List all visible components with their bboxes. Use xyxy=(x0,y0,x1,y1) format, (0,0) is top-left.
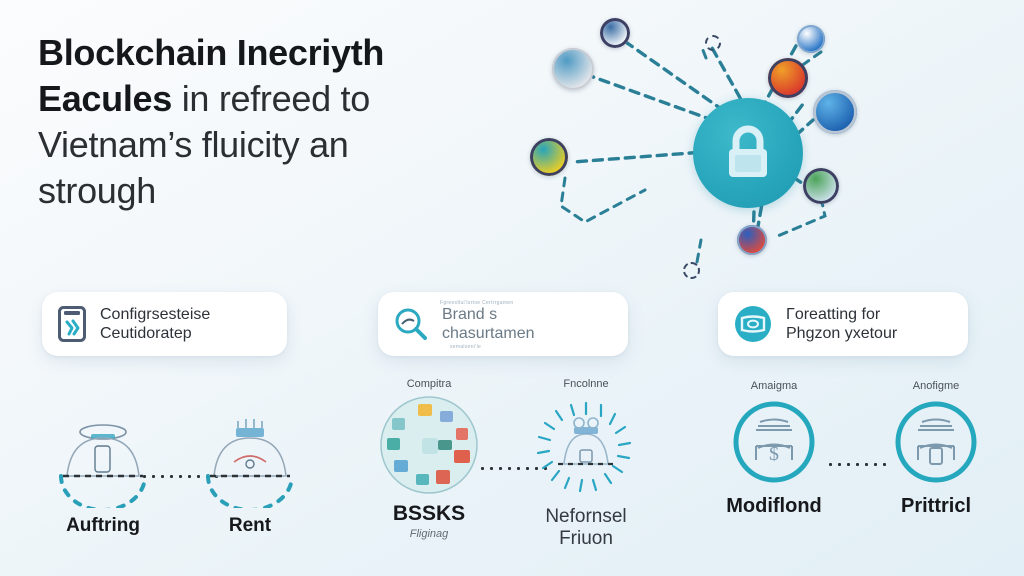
padlock-icon xyxy=(720,123,776,183)
node-map-gray[interactable] xyxy=(552,48,594,90)
card-research-micro-top: Fgreestlui’lsrtoe Certrrgamen xyxy=(440,300,513,306)
network-hub xyxy=(693,98,803,208)
node-terminator-top xyxy=(705,35,721,51)
card-compliance-line1: Configrsesteise xyxy=(100,306,210,323)
item-modiflond[interactable]: Amaigma $ Modiflond xyxy=(704,380,844,518)
item-prittricl-top-label: Anofigme xyxy=(866,380,1006,392)
card-research-micro-bottom: semalseni‘le xyxy=(450,344,481,350)
node-flag-red[interactable] xyxy=(768,58,808,98)
infographic-canvas: Blockchain Inecriyth Eacules in refreed … xyxy=(0,0,1024,576)
page-title-rest-line2: in refreed to xyxy=(172,78,370,119)
earth-icon xyxy=(803,168,839,204)
bed-device-icon xyxy=(890,396,982,488)
tablet-document-icon xyxy=(58,306,86,342)
item-nefornsel[interactable]: Fncolnne Nefornsel Friuon xyxy=(516,378,656,550)
dome-crown-icon xyxy=(194,404,306,508)
svg-text:$: $ xyxy=(769,443,779,465)
node-fb-blue[interactable] xyxy=(797,25,825,53)
item-nefornsel-top-label: Fncolnne xyxy=(516,378,656,390)
item-bssks[interactable]: Compitra BSSKS Fliginag xyxy=(364,378,494,540)
node-terminator-bottom xyxy=(683,262,700,279)
item-nefornsel-label: Nefornsel Friuon xyxy=(516,506,656,550)
page-title-line3: Vietnam’s fluicity an xyxy=(38,124,349,165)
network-diagram xyxy=(525,0,1024,290)
globe-icon xyxy=(813,90,857,134)
card-research-text: Brand s chasurtamen xyxy=(442,305,535,343)
item-prittricl-label: Prittricl xyxy=(866,495,1006,518)
item-prittricl[interactable]: Anofigme Prittricl xyxy=(866,380,1006,518)
presentation-icon xyxy=(734,305,772,343)
item-bssks-sub-label: Fliginag xyxy=(364,528,494,540)
page-title-bold-line2: Eacules xyxy=(38,78,172,119)
icon-cluster-circle xyxy=(378,394,480,496)
dome-sketch-icon xyxy=(47,404,159,508)
node-globe-green[interactable] xyxy=(803,168,839,204)
bed-dollar-icon: $ xyxy=(728,396,820,488)
item-modiflond-top-label: Amaigma xyxy=(704,380,844,392)
card-forecast-line2: Phgzon yxetour xyxy=(786,324,897,343)
card-forecast[interactable]: Γoreatting for Phgzon yxetour xyxy=(718,292,968,356)
card-compliance-line2: Ceutidoratep xyxy=(100,324,210,343)
node-globe-blue[interactable] xyxy=(813,90,857,134)
group-middle: Compitra BSSKS Fliginag xyxy=(358,378,658,568)
card-compliance[interactable]: Configrsesteise Ceutidoratep xyxy=(42,292,287,356)
node-badge-top-left[interactable] xyxy=(600,18,630,48)
item-modiflond-label: Modiflond xyxy=(704,495,844,518)
item-bssks-top-label: Compitra xyxy=(364,378,494,390)
node-flag-tricolor[interactable] xyxy=(737,225,767,255)
group-left: Auftring Rent xyxy=(20,396,330,566)
card-research-line1: Brand s xyxy=(442,306,497,323)
page-title-line4: strough xyxy=(38,170,156,211)
magnifier-icon xyxy=(394,307,428,341)
card-research[interactable]: Brand s chasurtamen Fgreestlui’lsrtoe Ce… xyxy=(378,292,628,356)
sunrise-icon xyxy=(530,138,568,176)
map-icon xyxy=(552,48,594,90)
card-research-line2: chasurtamen xyxy=(442,324,535,343)
item-bssks-label: BSSKS xyxy=(364,502,494,526)
social-icon xyxy=(797,25,825,53)
flag-icon xyxy=(768,58,808,98)
radial-dome-icon xyxy=(532,394,640,500)
item-auftring[interactable]: Auftring xyxy=(38,404,168,537)
node-sun-yellow[interactable] xyxy=(530,138,568,176)
item-rent[interactable]: Rent xyxy=(185,404,315,537)
card-forecast-text: Γoreatting for Phgzon yxetour xyxy=(786,305,897,343)
badge-icon xyxy=(600,18,630,48)
card-forecast-line1: Γoreatting for xyxy=(786,306,880,323)
card-compliance-text: Configrsesteise Ceutidoratep xyxy=(100,305,210,343)
page-title-bold-line1: Blockchain Inecriyth xyxy=(38,32,384,73)
group-right: Amaigma $ Modiflond Anofigme Prittricl xyxy=(690,380,1010,560)
item-auftring-label: Auftring xyxy=(38,515,168,537)
flag-icon xyxy=(737,225,767,255)
page-title: Blockchain Inecriyth Eacules in refreed … xyxy=(38,30,488,214)
item-rent-label: Rent xyxy=(185,515,315,537)
